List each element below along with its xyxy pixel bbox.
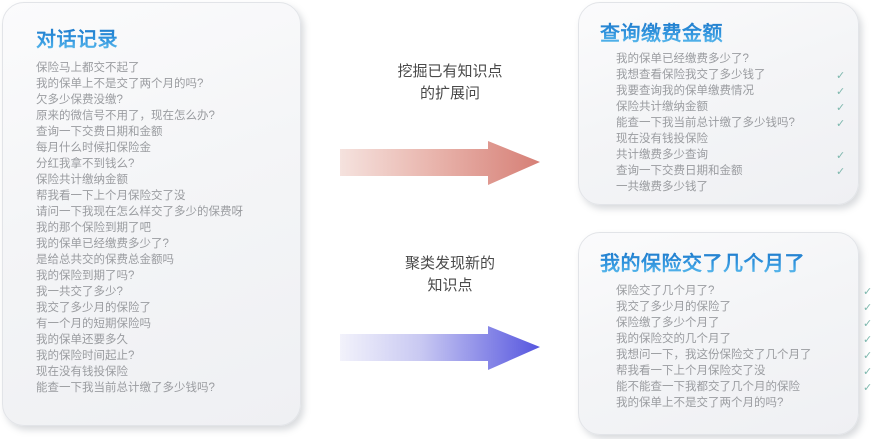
check-icon: ✓ [836,84,845,100]
list-item: 我交了多少月的保险了✓ [616,299,812,315]
list-item: 我要查询我的保单缴费情况✓ [616,83,795,99]
check-icon: ✓ [836,100,845,116]
list-item-label: 能不能查一下我都交了几个月的保险 [616,379,800,395]
list-item: 请问一下我现在怎么样交了多少的保费呀 [36,204,243,220]
months-paid-list: 保险交了几个月了?✓我交了多少月的保险了✓保险缴了多少个月了✓我的保险交的几个月… [616,283,812,411]
months-paid-title: 我的保险交了几个月了 [600,247,805,276]
list-item-label: 我的保单上不是交了两个月的吗? [616,395,783,411]
query-payment-amount-title: 查询缴费金额 [600,17,723,46]
check-icon: ✓ [863,284,872,300]
list-item-label: 我想查看保险我交了多少钱了 [616,67,766,83]
list-item: 保险共计缴纳金额 [36,172,243,188]
list-item-label: 我想问一下，我这份保险交了几个月了 [616,347,812,363]
list-item-label: 查询一下交费日期和金额 [616,163,743,179]
check-icon: ✓ [836,116,845,132]
check-icon: ✓ [863,300,872,316]
list-item-label: 我的保险交的几个月了 [616,331,731,347]
list-item-label: 我交了多少月的保险了 [616,299,731,315]
list-item: 我一共交了多少? [36,284,243,300]
list-item-label: 我一共交了多少? [36,284,123,300]
list-item: 分红我拿不到钱么? [36,156,243,172]
list-item-label: 共计缴费多少查询 [616,147,708,163]
list-item-label: 我的保单还要多久 [36,332,128,348]
flow-caption-cluster-line1: 聚类发现新的 [345,253,555,275]
list-item-label: 我的保单上不是交了两个月的吗? [36,76,203,92]
list-item-label: 一共缴费多少钱了 [616,179,708,195]
flow-caption-cluster: 聚类发现新的 知识点 [345,253,555,297]
check-icon: ✓ [863,332,872,348]
conversation-log-panel: 对话记录 保险马上都交不起了我的保单上不是交了两个月的吗?欠多少保费没缴?原来的… [2,2,301,426]
list-item-label: 我要查询我的保单缴费情况 [616,83,754,99]
list-item-label: 现在没有钱投保险 [616,131,708,147]
list-item: 现在没有钱投保险 [616,131,795,147]
list-item-label: 帮我看一下上个月保险交了没 [616,363,766,379]
flow-caption-expand: 挖掘已有知识点 的扩展问 [345,61,555,105]
list-item: 我交了多少月的保险了 [36,300,243,316]
arrow-right-pink-icon [340,141,540,187]
query-payment-amount-list: 我的保单已经缴费多少了?我想查看保险我交了多少钱了✓我要查询我的保单缴费情况✓保… [616,51,795,195]
list-item-label: 是给总共交的保费总金额吗 [36,252,174,268]
list-item: 我的那个保险到期了吧 [36,220,243,236]
conversation-log-title: 对话记录 [36,23,118,52]
list-item-label: 保险马上都交不起了 [36,60,140,76]
check-icon: ✓ [863,364,872,380]
arrow-right-purple-icon [340,326,540,372]
check-icon: ✓ [863,380,872,396]
list-item: 我的保单还要多久 [36,332,243,348]
check-icon: ✓ [836,68,845,84]
list-item-label: 保险交了几个月了? [616,283,714,299]
list-item-label: 原来的微信号不用了，现在怎么办? [36,108,215,124]
list-item: 保险交了几个月了?✓ [616,283,812,299]
list-item-label: 现在没有钱投保险 [36,364,128,380]
list-item: 一共缴费多少钱了 [616,179,795,195]
list-item-label: 我的保单已经缴费多少了? [616,51,749,67]
list-item-label: 分红我拿不到钱么? [36,156,134,172]
list-item-label: 帮我看一下上个月保险交了没 [36,188,186,204]
list-item: 每月什么时候扣保险金 [36,140,243,156]
list-item-label: 我交了多少月的保险了 [36,300,151,316]
list-item: 有一个月的短期保险吗 [36,316,243,332]
list-item: 原来的微信号不用了，现在怎么办? [36,108,243,124]
list-item-label: 我的那个保险到期了吧 [36,220,151,236]
months-paid-panel: 我的保险交了几个月了 保险交了几个月了?✓我交了多少月的保险了✓保险缴了多少个月… [578,232,859,435]
list-item-label: 我的保险时间起止? [36,348,134,364]
list-item: 我的保单上不是交了两个月的吗? [616,395,812,411]
list-item-label: 请问一下我现在怎么样交了多少的保费呀 [36,204,243,220]
list-item-label: 我的保单已经缴费多少了? [36,236,169,252]
query-payment-amount-panel: 查询缴费金额 我的保单已经缴费多少了?我想查看保险我交了多少钱了✓我要查询我的保… [578,2,859,205]
list-item-label: 我的保险到期了吗? [36,268,134,284]
list-item: 查询一下交费日期和金额 [36,124,243,140]
list-item-label: 能查一下我当前总计缴了多少钱吗? [36,380,215,396]
list-item: 能不能查一下我都交了几个月的保险✓ [616,379,812,395]
list-item: 查询一下交费日期和金额✓ [616,163,795,179]
list-item: 我的保险时间起止? [36,348,243,364]
list-item: 保险共计缴纳金额✓ [616,99,795,115]
list-item: 帮我看一下上个月保险交了没 [36,188,243,204]
list-item: 我的保单上不是交了两个月的吗? [36,76,243,92]
list-item-label: 保险共计缴纳金额 [36,172,128,188]
list-item: 现在没有钱投保险 [36,364,243,380]
list-item-label: 保险共计缴纳金额 [616,99,708,115]
list-item: 我的保单已经缴费多少了? [36,236,243,252]
list-item: 我的保险交的几个月了✓ [616,331,812,347]
conversation-log-list: 保险马上都交不起了我的保单上不是交了两个月的吗?欠多少保费没缴?原来的微信号不用… [36,60,243,396]
list-item: 能查一下我当前总计缴了多少钱吗?✓ [616,115,795,131]
list-item: 保险缴了多少个月了✓ [616,315,812,331]
check-icon: ✓ [836,148,845,164]
list-item-label: 有一个月的短期保险吗 [36,316,151,332]
check-icon: ✓ [863,316,872,332]
check-icon: ✓ [863,348,872,364]
list-item-label: 能查一下我当前总计缴了多少钱吗? [616,115,795,131]
list-item: 我想问一下，我这份保险交了几个月了✓ [616,347,812,363]
flow-caption-cluster-line2: 知识点 [345,275,555,297]
list-item-label: 欠多少保费没缴? [36,92,123,108]
flow-caption-expand-line1: 挖掘已有知识点 [345,61,555,83]
list-item: 我的保单已经缴费多少了? [616,51,795,67]
list-item: 能查一下我当前总计缴了多少钱吗? [36,380,243,396]
list-item: 保险马上都交不起了 [36,60,243,76]
check-icon: ✓ [836,164,845,180]
list-item-label: 保险缴了多少个月了 [616,315,720,331]
list-item: 是给总共交的保费总金额吗 [36,252,243,268]
flow-caption-expand-line2: 的扩展问 [345,83,555,105]
list-item: 欠多少保费没缴? [36,92,243,108]
list-item-label: 查询一下交费日期和金额 [36,124,163,140]
list-item: 我的保险到期了吗? [36,268,243,284]
list-item: 共计缴费多少查询✓ [616,147,795,163]
list-item: 帮我看一下上个月保险交了没✓ [616,363,812,379]
list-item: 我想查看保险我交了多少钱了✓ [616,67,795,83]
list-item-label: 每月什么时候扣保险金 [36,140,151,156]
